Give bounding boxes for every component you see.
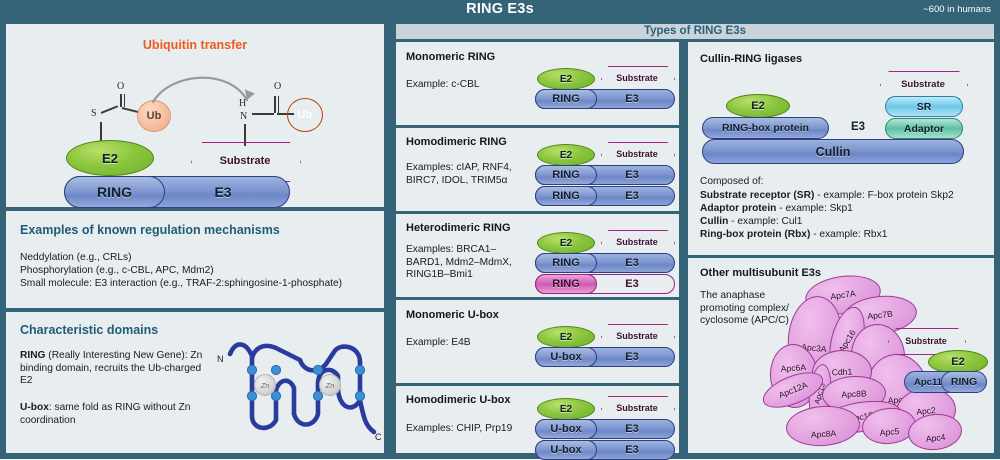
ring-label-apc: RING — [951, 376, 977, 388]
bond-carbonyl-double-b — [124, 94, 126, 107]
substrate-receptor-label: SR — [917, 101, 932, 113]
ring-cap-heterodimeric-ring-blue: RING — [535, 253, 597, 273]
crl-component-adaptor: Adaptor protein - example: Skp1 — [700, 203, 853, 216]
apc-subunit-apc4-label: Apc4 — [925, 432, 946, 444]
homodimeric-ring-title: Homodimeric RING — [406, 136, 507, 148]
ring-cap-homodimeric-ring-2: RING — [535, 186, 597, 206]
e3-label-homodimeric-ring-1: E3 — [625, 169, 638, 181]
e3-label-heterodimeric-ring-pink: E3 — [625, 278, 638, 290]
adaptor-protein-label: Adaptor — [904, 123, 944, 135]
e3-label-homodimeric-ubox-1: E3 — [625, 423, 638, 435]
substrate-receptor-shape: SR — [885, 96, 963, 117]
e2-shape-crl: E2 — [726, 94, 790, 118]
substrate-label-monomeric-ring: Substrate — [616, 73, 658, 83]
ring-label: RING — [97, 184, 132, 200]
homodimeric-ubox-title: Homodimeric U-box — [406, 394, 511, 406]
ring-desc: (Really Interesting New Gene): Zn bindin… — [20, 350, 202, 386]
ring-label-heterodimeric-ring-blue: RING — [552, 257, 580, 269]
monomeric-ring-title: Monomeric RING — [406, 51, 495, 63]
heterodimeric-ring-title: Heterodimeric RING — [406, 222, 511, 234]
e2-shape-homodimeric-ring: E2 — [537, 144, 595, 166]
apc-subunit-apc7b-label: Apc7B — [867, 309, 893, 322]
ubox-term: U-box — [20, 402, 49, 413]
atom-label-hydrogen: H — [239, 98, 246, 109]
apc-title: Other multisubunit E3s — [700, 267, 821, 279]
ring-label-monomeric-ring: RING — [552, 93, 580, 105]
e2-label-homodimeric-ring: E2 — [560, 150, 572, 161]
type-row-homodimeric-ring: Homodimeric RING Examples: cIAP, RNF4, B… — [396, 128, 679, 211]
figure-header: RING E3s ~600 in humans — [0, 0, 1000, 20]
ring-label-heterodimeric-ring-pink: RING — [552, 278, 580, 290]
e3-label-homodimeric-ring-2: E3 — [625, 190, 638, 202]
ring-cap-heterodimeric-ring-pink: RING — [535, 274, 597, 294]
crl-component-adaptor-desc: - example: Skp1 — [776, 203, 852, 214]
ring-label-homodimeric-ring-2: RING — [552, 190, 580, 202]
ring-cap-apc: RING — [941, 371, 987, 393]
crl-component-cullin-desc: - example: Cul1 — [728, 216, 802, 227]
crl-component-adaptor-term: Adaptor protein — [700, 203, 776, 214]
regulation-title: Examples of known regulation mechanisms — [20, 223, 280, 237]
e2-label-crl: E2 — [751, 100, 764, 112]
cullin-label: Cullin — [816, 145, 851, 159]
crl-component-rbx-desc: - example: Rbx1 — [810, 229, 887, 240]
figure-root: RING E3s ~600 in humans Ubiquitin transf… — [0, 0, 1000, 459]
substrate-shape-homodimeric-ubox: Substrate — [601, 396, 673, 420]
left-panel-regulation: Examples of known regulation mechanisms … — [6, 211, 384, 308]
types-of-ring-e3s-header: Types of RING E3s — [396, 24, 994, 39]
e3-label: E3 — [214, 184, 231, 200]
apc-subunit-apc5-label: Apc5 — [879, 426, 899, 438]
e2-label-homodimeric-ubox: E2 — [560, 404, 572, 415]
crl-component-cullin: Cullin - example: Cul1 — [700, 216, 802, 229]
e2-label-monomeric-ring: E2 — [560, 74, 572, 85]
ring-fold-cartoon — [214, 328, 384, 446]
ubox-label-homodimeric-ubox-2: U-box — [550, 444, 581, 456]
ubox-cap-homodimeric-ubox-2: U-box — [535, 440, 597, 460]
substrate-shape-monomeric-ring: Substrate — [601, 66, 673, 90]
page-title: RING E3s — [0, 1, 1000, 17]
substrate-label: Substrate — [220, 155, 271, 167]
atom-label-oxygen-right: O — [274, 81, 281, 92]
e3-label-heterodimeric-ring-blue: E3 — [625, 257, 638, 269]
bond-s-to-carbonyl — [101, 105, 118, 113]
ring-domain-description: RING (Really Interesting New Gene): Zn b… — [20, 350, 210, 388]
heterodimeric-ring-examples: Examples: BRCA1–BARD1, Mdm2–MdmX, RING1B… — [406, 244, 516, 282]
monomeric-ubox-examples: Example: E4B — [406, 337, 531, 350]
types-header-label: Types of RING E3s — [644, 25, 746, 37]
ubiquitin-transfer-title: Ubiquitin transfer — [6, 38, 384, 52]
homodimeric-ring-examples: Examples: cIAP, RNF4, BIRC7, IDOL, TRIM5… — [406, 162, 534, 187]
human-count-note: ~600 in humans — [923, 4, 991, 15]
crl-component-rbx: Ring-box protein (Rbx) - example: Rbx1 — [700, 229, 887, 242]
crl-panel: Cullin-RING ligases Substrate SR Adaptor… — [688, 42, 994, 255]
type-row-heterodimeric-ring: Heterodimeric RING Examples: BRCA1–BARD1… — [396, 214, 679, 297]
e3-label-monomeric-ubox: E3 — [625, 351, 638, 363]
substrate-shape: Substrate — [191, 142, 299, 180]
type-row-homodimeric-ubox: Homodimeric U-box Examples: CHIP, Prp19 … — [396, 386, 679, 453]
bond-carbonyl-right-double-a — [274, 96, 276, 113]
atom-label-oxygen-left: O — [117, 81, 124, 92]
ring-label-homodimeric-ring-1: RING — [552, 169, 580, 181]
ubox-domain-description: U-box: same fold as RING without Zn coor… — [20, 402, 220, 427]
zinc-ion-1: Zn — [254, 374, 276, 396]
apc-subunit-apc8a: Apc8A — [785, 403, 862, 448]
ring-cap-monomeric-ring: RING — [535, 89, 597, 109]
substrate-label-monomeric-ubox: Substrate — [616, 331, 658, 341]
crl-component-sr-term: Substrate receptor (SR) — [700, 190, 814, 201]
substrate-label-heterodimeric-ring: Substrate — [616, 237, 658, 247]
apc-caption: The anaphase promoting complex/ cyclosom… — [700, 290, 792, 328]
monomeric-ring-examples: Example: c-CBL — [406, 79, 531, 92]
substrate-shape-heterodimeric-ring: Substrate — [601, 230, 673, 254]
ring-term: RING — [20, 350, 45, 361]
ubox-cap-homodimeric-ubox-1: U-box — [535, 419, 597, 439]
monomeric-ubox-title: Monomeric U-box — [406, 309, 499, 321]
substrate-label-homodimeric-ring: Substrate — [616, 149, 658, 159]
bond-n-to-carbonyl-right — [252, 113, 274, 115]
crl-component-rbx-term: Ring-box protein (Rbx) — [700, 229, 810, 240]
e2-label: E2 — [102, 151, 118, 166]
apc11-label: Apc11 — [914, 377, 942, 388]
crl-component-sr: Substrate receptor (SR) - example: F-box… — [700, 190, 954, 203]
regulation-line-2: Phosphorylation (e.g., c-CBL, APC, Mdm2) — [20, 265, 214, 278]
n-terminus-label: N — [217, 354, 224, 364]
ubox-label-homodimeric-ubox-1: U-box — [550, 423, 581, 435]
e2-enzyme-shape: E2 — [66, 140, 154, 176]
crl-e3-label: E3 — [851, 121, 865, 133]
ub-conjugated: Ub — [287, 98, 323, 132]
substrate-shape-monomeric-ubox: Substrate — [601, 324, 673, 348]
crl-composed-of-label: Composed of: — [700, 176, 763, 189]
substrate-label-crl: Substrate — [901, 79, 945, 90]
ub-conjugated-label: Ub — [298, 109, 313, 121]
zinc-ion-2: Zn — [319, 374, 341, 396]
apc-subunit-apc8a-label: Apc8A — [811, 428, 837, 440]
crl-component-sr-desc: - example: F-box protein Skp2 — [814, 190, 953, 201]
e3-label-homodimeric-ubox-2: E3 — [625, 444, 638, 456]
ubox-label-monomeric-ubox: U-box — [550, 351, 581, 363]
ring-box-protein-shape: RING-box protein — [702, 117, 829, 139]
substrate-shape-homodimeric-ring: Substrate — [601, 142, 673, 166]
crl-component-cullin-term: Cullin — [700, 216, 728, 227]
ring-domain-cap: RING — [64, 176, 165, 208]
apc-panel: Other multisubunit E3s The anaphase prom… — [688, 258, 994, 453]
e2-shape-monomeric-ubox: E2 — [537, 326, 595, 348]
apc-subunit-apc7a-label: Apc7A — [830, 288, 856, 301]
zinc-ion-2-label: Zn — [326, 381, 335, 390]
type-row-monomeric-ubox: Monomeric U-box Example: E4B E2 Substrat… — [396, 300, 679, 383]
apc-subunit-apc12a-label: Apc12A — [777, 380, 809, 401]
regulation-line-3: Small molecule: E3 interaction (e.g., TR… — [20, 278, 342, 291]
atom-label-sulfur: S — [91, 108, 97, 119]
adaptor-protein-shape: Adaptor — [885, 118, 963, 139]
c-terminus-label: C — [375, 432, 382, 442]
left-panel-domains: Characteristic domains RING (Really Inte… — [6, 312, 384, 453]
e2-label-apc: E2 — [951, 356, 964, 368]
bond-carbonyl-right-double-b — [278, 96, 280, 113]
zinc-ion-1-label: Zn — [261, 381, 270, 390]
e2-shape-heterodimeric-ring: E2 — [537, 232, 595, 254]
e2-shape-homodimeric-ubox: E2 — [537, 398, 595, 420]
e2-label-monomeric-ubox: E2 — [560, 332, 572, 343]
regulation-line-1: Neddylation (e.g., CRLs) — [20, 252, 132, 265]
substrate-shape-crl: Substrate — [880, 71, 966, 97]
bond-s-to-e2 — [100, 122, 102, 142]
e2-label-heterodimeric-ring: E2 — [560, 238, 572, 249]
substrate-label-apc: Substrate — [905, 336, 947, 346]
ubox-cap-monomeric-ubox: U-box — [535, 347, 597, 367]
domains-title: Characteristic domains — [20, 323, 158, 337]
left-panel-transfer: Ubiquitin transfer S O Ub H N O Ub E2 — [6, 24, 384, 207]
cullin-shape: Cullin — [702, 139, 964, 164]
type-row-monomeric-ring: Monomeric RING Example: c-CBL E2 Substra… — [396, 42, 679, 125]
substrate-label-homodimeric-ubox: Substrate — [616, 403, 658, 413]
ring-cap-homodimeric-ring-1: RING — [535, 165, 597, 185]
bond-carbonyl-double-a — [120, 94, 122, 107]
crl-title: Cullin-RING ligases — [700, 53, 802, 65]
apc-subunit-apc8b-label: Apc8B — [841, 388, 867, 399]
e3-label-monomeric-ring: E3 — [625, 93, 638, 105]
homodimeric-ubox-examples: Examples: CHIP, Prp19 — [406, 423, 534, 436]
e2-shape-monomeric-ring: E2 — [537, 68, 595, 90]
ring-box-protein-label: RING-box protein — [722, 122, 809, 134]
atom-label-nitrogen: N — [240, 111, 247, 122]
